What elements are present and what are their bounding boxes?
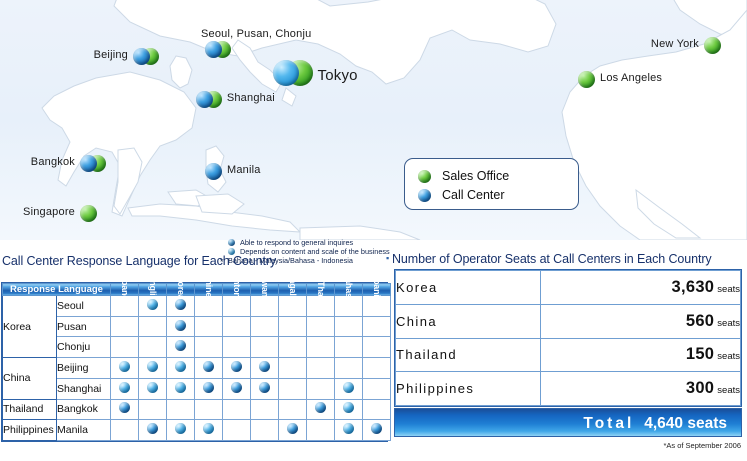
blue-sphere-icon (273, 60, 299, 86)
language-support-cell (335, 337, 363, 358)
light-blue-dot-icon (147, 382, 158, 393)
light-blue-dot-icon (343, 402, 354, 413)
dark-blue-dot-icon (203, 382, 214, 393)
table-row: Pusan (3, 316, 391, 337)
blue-sphere-icon (205, 41, 222, 58)
language-column-header: Taiwanese (251, 284, 279, 296)
language-column-header: Japanese (111, 284, 139, 296)
language-column-label: Taiwanese (260, 268, 270, 311)
map-city-label: Seoul, Pusan, Chonju (201, 28, 311, 40)
language-support-cell (139, 316, 167, 337)
language-column-header: Cantonese (223, 284, 251, 296)
blue-sphere-icon (205, 163, 222, 180)
map-legend: Sales Office Call Center (404, 158, 579, 210)
language-support-cell (251, 337, 279, 358)
map-city-label: Bangkok (31, 156, 75, 168)
language-column-label: Chinese (204, 273, 214, 307)
light-blue-dot-icon (343, 423, 354, 434)
seats-total-bar: Total4,640 seats (394, 408, 742, 437)
table-row: PhilippinesManila (3, 420, 391, 441)
language-support-cell (363, 399, 391, 420)
language-support-cell (307, 337, 335, 358)
map-city-label: New York (651, 38, 699, 50)
language-support-cell (223, 378, 251, 399)
language-support-cell (279, 337, 307, 358)
bullet-icon: ▪ (386, 253, 389, 263)
language-support-cell (223, 316, 251, 337)
seats-table-title-text: Number of Operator Seats at Call Centers… (392, 252, 712, 266)
light-blue-dot-icon (147, 361, 158, 372)
seats-value-cell: 3,630seats (540, 271, 740, 305)
language-support-cell (251, 316, 279, 337)
language-support-cell (167, 316, 195, 337)
language-column-header: Tagalog (279, 284, 307, 296)
seats-country-cell: Korea (396, 271, 541, 305)
seats-value-cell: 560seats (540, 304, 740, 338)
language-support-cell (335, 399, 363, 420)
dark-blue-dot-icon (231, 361, 242, 372)
language-support-cell (167, 420, 195, 441)
language-column-label: Tagalog (288, 273, 298, 305)
country-cell: Thailand (3, 399, 57, 420)
language-support-cell (363, 337, 391, 358)
map-city-label: Shanghai (227, 92, 275, 104)
light-blue-dot-icon (203, 423, 214, 434)
language-support-cell (167, 378, 195, 399)
map-city-label: Manila (227, 164, 261, 176)
language-support-cell (223, 337, 251, 358)
dark-blue-dot-icon (119, 402, 130, 413)
language-support-cell (307, 399, 335, 420)
language-support-cell (111, 378, 139, 399)
dark-blue-dot-icon (259, 361, 270, 372)
blue-sphere-icon (196, 91, 213, 108)
light-blue-dot-icon (343, 382, 354, 393)
seats-value-cell: 300seats (540, 372, 740, 406)
blue-sphere-icon (80, 155, 97, 172)
language-support-cell (363, 358, 391, 379)
language-support-cell (195, 358, 223, 379)
map-city-label: Los Angeles (600, 72, 662, 84)
language-support-cell (223, 399, 251, 420)
language-support-cell (363, 420, 391, 441)
language-support-cell (167, 337, 195, 358)
language-support-cell (167, 358, 195, 379)
language-support-cell (111, 420, 139, 441)
seats-value-cell: 150seats (540, 338, 740, 372)
language-support-cell (335, 358, 363, 379)
language-support-cell (307, 316, 335, 337)
language-support-cell (139, 378, 167, 399)
total-label: Total (583, 415, 634, 432)
seats-number: 150 (686, 345, 714, 363)
language-column-header: Korean (167, 284, 195, 296)
green-sphere-icon (418, 170, 431, 183)
light-blue-dot-icon (175, 382, 186, 393)
dot-legend-label: Able to respond to general inquires (240, 238, 353, 247)
language-support-cell (139, 358, 167, 379)
seats-number: 3,630 (671, 278, 714, 296)
dark-blue-dot-icon (175, 340, 186, 351)
country-cell: Korea (3, 296, 57, 358)
language-column-label: Japanese (120, 270, 130, 309)
language-support-cell (139, 296, 167, 317)
language-support-cell (279, 378, 307, 399)
dark-blue-dot-icon (228, 239, 235, 246)
table-row: Korea3,630seats (396, 271, 741, 305)
table-row: Thailand150seats (396, 338, 741, 372)
language-support-cell (111, 358, 139, 379)
language-support-cell (335, 420, 363, 441)
dark-blue-dot-icon (371, 423, 382, 434)
city-cell: Chonju (57, 337, 111, 358)
dark-blue-dot-icon (287, 423, 298, 434)
table-row: Philippines300seats (396, 372, 741, 406)
language-support-cell (139, 399, 167, 420)
language-support-cell (223, 358, 251, 379)
light-blue-dot-icon (147, 299, 158, 310)
language-support-cell (279, 420, 307, 441)
language-support-cell (251, 358, 279, 379)
map-city-label: Beijing (94, 49, 128, 61)
language-support-cell (279, 316, 307, 337)
seats-country-cell: China (396, 304, 541, 338)
dark-blue-dot-icon (147, 423, 158, 434)
language-support-cell (111, 399, 139, 420)
dark-blue-dot-icon (231, 382, 242, 393)
language-support-cell (111, 337, 139, 358)
language-support-cell (195, 316, 223, 337)
map-city-label: Singapore (23, 206, 75, 218)
table-row: China560seats (396, 304, 741, 338)
language-column-header: Chinese (195, 284, 223, 296)
city-cell: Seoul (57, 296, 111, 317)
light-blue-dot-icon (119, 382, 130, 393)
language-support-cell (139, 337, 167, 358)
city-cell: Beijing (57, 358, 111, 379)
table-row: KoreaSeoul (3, 296, 391, 317)
dark-blue-dot-icon (315, 402, 326, 413)
city-cell: Bangkok (57, 399, 111, 420)
language-support-cell (111, 316, 139, 337)
country-cell: Philippines (3, 420, 57, 441)
language-support-cell (139, 420, 167, 441)
seats-table: Korea3,630seatsChina560seatsThailand150s… (394, 269, 742, 407)
city-cell: Pusan (57, 316, 111, 337)
language-table-header-row: Response Language JapaneseEnglishKoreanC… (3, 284, 391, 296)
map-legend-label: Sales Office (442, 169, 509, 183)
language-support-cell (251, 399, 279, 420)
map-legend-label: Call Center (442, 188, 505, 202)
language-support-cell (307, 378, 335, 399)
language-support-cell (335, 378, 363, 399)
language-column-label: Bahasa * (344, 271, 354, 307)
blue-sphere-icon (133, 48, 150, 65)
seats-unit: seats (717, 351, 740, 362)
language-support-cell (279, 358, 307, 379)
seats-unit: seats (717, 385, 740, 396)
response-language-header: Response Language (3, 284, 111, 296)
dark-blue-dot-icon (175, 320, 186, 331)
blue-sphere-icon (418, 189, 431, 202)
dark-blue-dot-icon (203, 361, 214, 372)
tables-section: Able to respond to general inquires Depe… (0, 238, 747, 461)
light-blue-dot-icon (175, 423, 186, 434)
seats-country-cell: Philippines (396, 372, 541, 406)
language-support-cell (363, 378, 391, 399)
language-support-cell (195, 378, 223, 399)
language-support-cell (251, 420, 279, 441)
city-cell: Shanghai (57, 378, 111, 399)
language-column-header: Bahasa * (335, 284, 363, 296)
language-support-cell (335, 316, 363, 337)
seats-table-title: ▪ Number of Operator Seats at Call Cente… (392, 252, 712, 266)
language-support-cell (307, 420, 335, 441)
seats-unit: seats (717, 284, 740, 295)
country-cell: China (3, 358, 57, 399)
seats-number: 560 (686, 312, 714, 330)
language-column-label: Cantonese (232, 267, 242, 311)
language-column-header: Thai (307, 284, 335, 296)
language-support-cell (223, 420, 251, 441)
language-table-body: KoreaSeoulPusanChonjuChinaBeijingShangha… (3, 296, 391, 441)
language-support-cell (363, 316, 391, 337)
world-map-panel: BeijingSeoul, Pusan, ChonjuTokyoShanghai… (0, 0, 747, 240)
light-blue-dot-icon (119, 361, 130, 372)
green-sphere-icon (80, 205, 97, 222)
table-row: ChinaBeijing (3, 358, 391, 379)
as-of-footnote: *As of September 2006 (663, 441, 741, 450)
seats-table-body: Korea3,630seatsChina560seatsThailand150s… (396, 271, 741, 406)
table-row: Shanghai (3, 378, 391, 399)
language-support-cell (195, 420, 223, 441)
green-sphere-icon (578, 71, 595, 88)
seats-country-cell: Thailand (396, 338, 541, 372)
dark-blue-dot-icon (259, 382, 270, 393)
map-city-label: Tokyo (318, 67, 358, 84)
language-table: Response Language JapaneseEnglishKoreanC… (1, 282, 388, 442)
language-column-header: Spanish (363, 284, 391, 296)
language-support-cell (307, 358, 335, 379)
table-row: ThailandBangkok (3, 399, 391, 420)
language-support-cell (167, 296, 195, 317)
language-support-cell (167, 399, 195, 420)
city-cell: Manila (57, 420, 111, 441)
language-table-title: Call Center Response Language for Each C… (2, 254, 276, 268)
language-column-label: Spanish (372, 273, 382, 307)
seats-number: 300 (686, 379, 714, 397)
table-row: Chonju (3, 337, 391, 358)
green-sphere-icon (704, 37, 721, 54)
language-support-cell (195, 337, 223, 358)
seats-unit: seats (717, 318, 740, 329)
dark-blue-dot-icon (175, 299, 186, 310)
language-support-cell (251, 378, 279, 399)
map-landmass-graphic (0, 0, 747, 240)
language-support-cell (195, 399, 223, 420)
language-column-header: English (139, 284, 167, 296)
total-value: 4,640 seats (644, 415, 727, 432)
language-column-label: Thai (316, 281, 326, 299)
light-blue-dot-icon (175, 361, 186, 372)
language-support-cell (279, 399, 307, 420)
